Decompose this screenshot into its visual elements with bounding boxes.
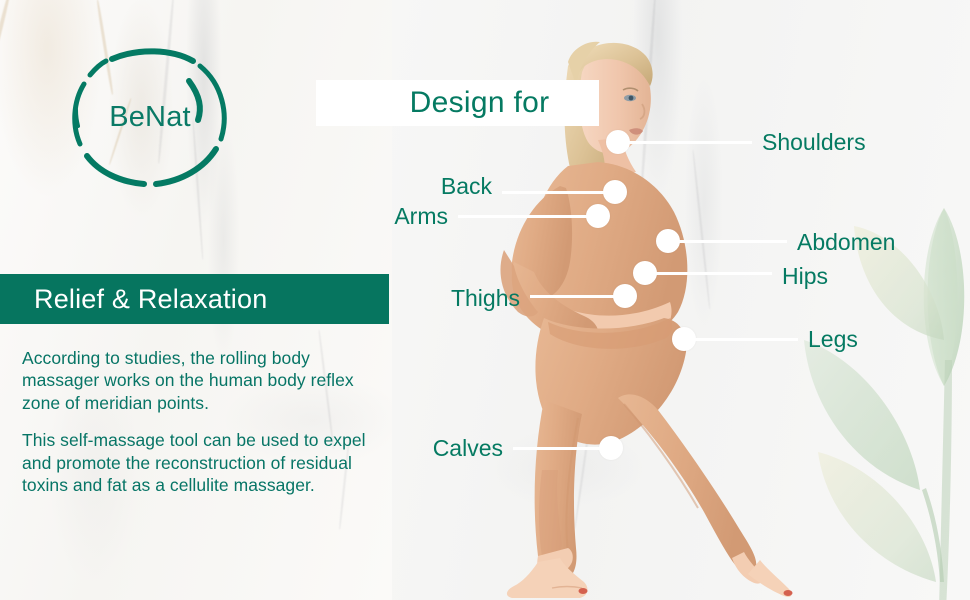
callout-dot-thighs <box>613 284 637 308</box>
callout-leader-calves <box>513 447 601 450</box>
relief-copy-block: According to studies, the rolling body m… <box>22 347 382 496</box>
relief-paragraph-2: This self-massage tool can be used to ex… <box>22 429 382 496</box>
infographic-canvas: BeNat <box>0 0 970 600</box>
relief-banner-title: Relief & Relaxation <box>0 284 267 315</box>
callout-leader-thighs <box>530 295 615 298</box>
callout-dot-calves <box>599 436 623 460</box>
callout-leader-shoulders <box>628 141 752 144</box>
callout-label-abdomen: Abdomen <box>797 231 895 254</box>
callout-leader-arms <box>458 215 588 218</box>
callout-dot-abdomen <box>656 229 680 253</box>
callout-label-shoulders: Shoulders <box>762 131 866 154</box>
brand-logo: BeNat <box>52 40 248 195</box>
callout-dot-hips <box>633 261 657 285</box>
callout-dot-back <box>603 180 627 204</box>
callout-label-thighs: Thighs <box>451 287 520 310</box>
callout-label-back: Back <box>441 175 492 198</box>
relief-paragraph-1: According to studies, the rolling body m… <box>22 347 382 414</box>
callout-leader-abdomen <box>678 240 787 243</box>
callout-dot-legs <box>672 327 696 351</box>
design-for-band: Design for <box>316 80 599 126</box>
callout-leader-back <box>502 191 605 194</box>
brand-name: BeNat <box>52 100 248 133</box>
callout-label-arms: Arms <box>394 205 448 228</box>
callout-label-calves: Calves <box>433 437 503 460</box>
callout-label-legs: Legs <box>808 328 858 351</box>
design-for-label: Design for <box>366 86 550 120</box>
callout-dot-arms <box>586 204 610 228</box>
callout-leader-legs <box>694 338 798 341</box>
callout-leader-hips <box>655 272 772 275</box>
callout-label-hips: Hips <box>782 265 828 288</box>
callout-dot-shoulders <box>606 130 630 154</box>
relief-banner: Relief & Relaxation <box>0 274 389 324</box>
